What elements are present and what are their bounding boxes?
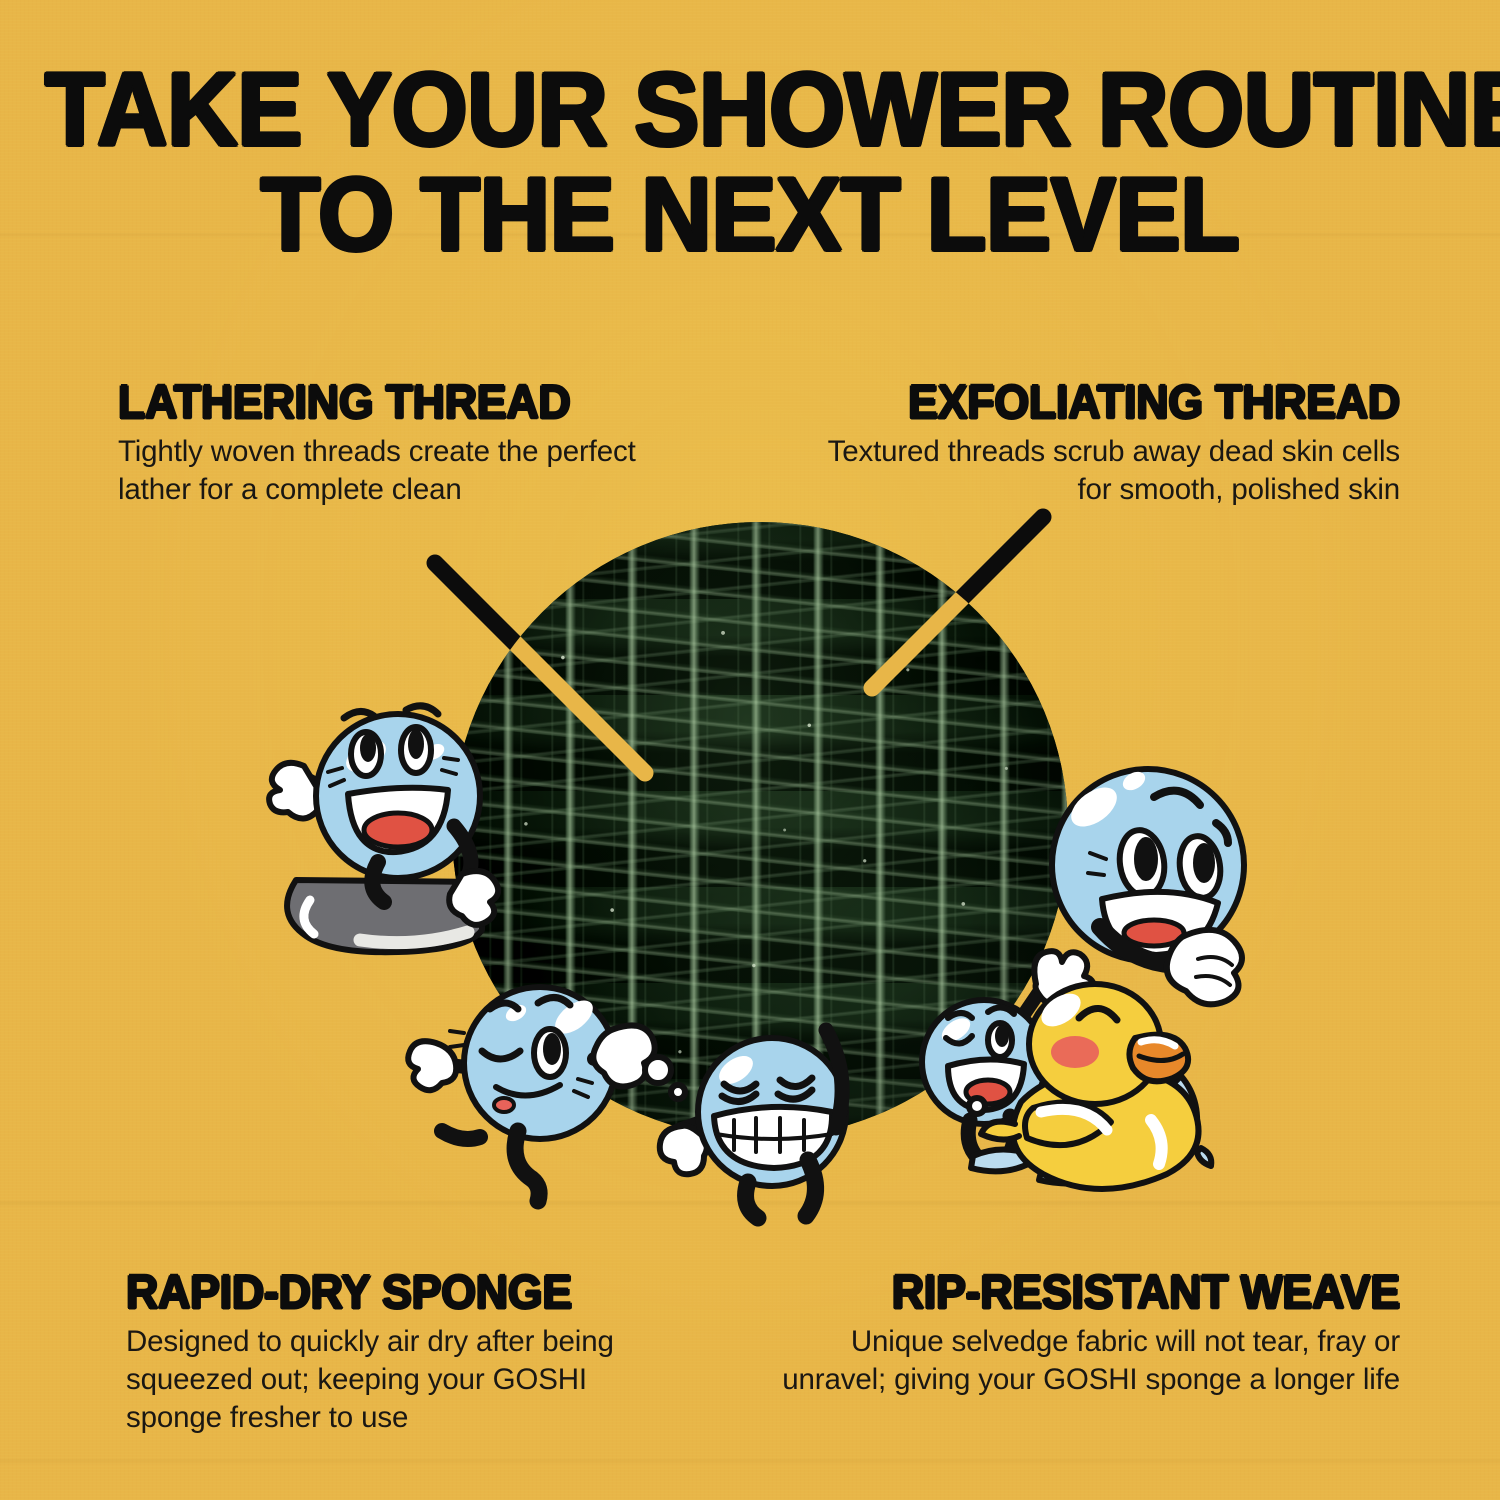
bubble-character-waving: [248, 648, 548, 958]
feature-title-exfoliating: EXFOLIATING THREAD: [821, 378, 1401, 425]
infographic-canvas: TAKE YOUR SHOWER ROUTINE TO THE NEXT LEV…: [0, 0, 1500, 1500]
feature-lathering-thread: LATHERING THREAD Tightly woven threads c…: [118, 378, 678, 509]
feature-exfoliating-thread: EXFOLIATING THREAD Textured threads scru…: [790, 378, 1400, 509]
water-splash: [1197, 1148, 1211, 1166]
feature-title-rip-resistant: RIP-RESISTANT WEAVE: [811, 1268, 1400, 1315]
soap-bubble: [969, 1098, 985, 1114]
feature-body-lathering: Tightly woven threads create the perfect…: [118, 433, 678, 509]
page-title: TAKE YOUR SHOWER ROUTINE TO THE NEXT LEV…: [0, 62, 1500, 263]
feature-rip-resistant-weave: RIP-RESISTANT WEAVE Unique selvedge fabr…: [780, 1268, 1400, 1399]
bubble-character-grinning: [630, 1000, 920, 1230]
feature-rapid-dry-sponge: RAPID-DRY SPONGE Designed to quickly air…: [126, 1268, 686, 1437]
feature-body-exfoliating: Textured threads scrub away dead skin ce…: [790, 433, 1400, 509]
feature-body-rip-resistant: Unique selvedge fabric will not tear, fr…: [780, 1323, 1400, 1399]
rubber-duck: [955, 960, 1255, 1210]
soap-bubble: [671, 1085, 685, 1099]
headline-line-2: TO THE NEXT LEVEL: [45, 167, 1455, 264]
feature-title-rapid-dry: RAPID-DRY SPONGE: [126, 1268, 658, 1315]
feature-title-lathering: LATHERING THREAD: [118, 378, 650, 425]
feature-body-rapid-dry: Designed to quickly air dry after being …: [126, 1323, 686, 1437]
headline-line-1: TAKE YOUR SHOWER ROUTINE: [45, 62, 1455, 159]
soap-bubble: [645, 1057, 671, 1083]
